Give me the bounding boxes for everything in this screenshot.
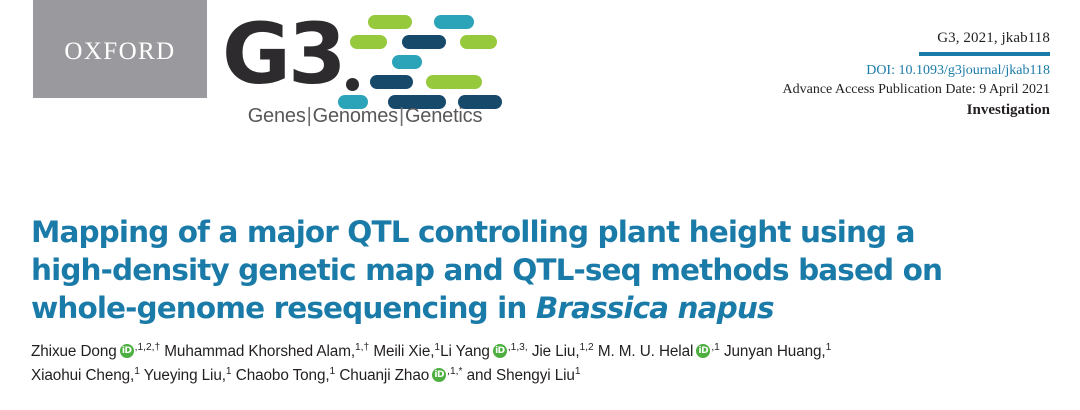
article-section-label: Investigation bbox=[630, 100, 1050, 120]
author-name[interactable]: Jie Liu, bbox=[528, 343, 580, 360]
author-affiliation-marker: ,1,2,† bbox=[135, 342, 161, 353]
bar-teal-1 bbox=[434, 15, 474, 29]
tagline-separator-1: | bbox=[306, 105, 313, 127]
author-line-1: Zhixue Dong,1,2,† Muhammad Khorshed Alam… bbox=[31, 340, 1051, 364]
author-name[interactable]: Muhammad Khorshed Alam, bbox=[160, 343, 355, 360]
title-line-1: Mapping of a major QTL controlling plant… bbox=[31, 215, 915, 249]
oxford-wordmark: OXFORD bbox=[64, 35, 175, 64]
g3-wordmark: G3 bbox=[222, 12, 343, 96]
tagline-separator-2: | bbox=[398, 105, 405, 127]
author-affiliation-marker: 1 bbox=[575, 366, 581, 377]
oxford-university-press-logo: OXFORD bbox=[33, 0, 207, 98]
doi-link[interactable]: DOI: 10.1093/g3journal/jkab118 bbox=[630, 61, 1050, 80]
author-name[interactable]: Xiaohui Cheng, bbox=[31, 367, 134, 384]
author-name[interactable]: Zhixue Dong bbox=[31, 343, 117, 360]
author-affiliation-marker: 1,† bbox=[355, 342, 369, 353]
page-title: Mapping of a major QTL controlling plant… bbox=[31, 213, 1041, 327]
journal-masthead: OXFORD G3 Genes|Genomes|Genetics G3, 202… bbox=[0, 0, 1080, 150]
tagline-genomes: Genomes bbox=[313, 105, 398, 127]
bar-green-4 bbox=[426, 75, 482, 89]
g3-gene-bars-icon bbox=[350, 13, 515, 105]
orcid-icon[interactable] bbox=[493, 344, 507, 358]
author-name[interactable]: and Shengyi Liu bbox=[462, 367, 574, 384]
author-line-2: Xiaohui Cheng,1 Yueying Liu,1 Chaobo Ton… bbox=[31, 364, 1051, 388]
bar-navy-2 bbox=[370, 75, 413, 89]
author-affiliation-marker: ,1,* bbox=[447, 366, 462, 377]
title-line-3-prefix: whole-genome resequencing in bbox=[31, 291, 536, 325]
journal-citation: G3, 2021, jkab118 bbox=[630, 28, 1050, 48]
orcid-icon[interactable] bbox=[120, 344, 134, 358]
author-name[interactable]: Meili Xie, bbox=[369, 343, 434, 360]
bar-green-3 bbox=[460, 35, 497, 49]
advance-access-date: Advance Access Publication Date: 9 April… bbox=[630, 80, 1050, 99]
author-name[interactable]: Yueying Liu, bbox=[140, 367, 226, 384]
g3-journal-logo: G3 Genes|Genomes|Genetics bbox=[222, 12, 512, 137]
bar-navy-1 bbox=[402, 35, 446, 49]
author-name[interactable]: Li Yang bbox=[440, 343, 490, 360]
bar-teal-2 bbox=[392, 55, 422, 69]
author-name[interactable]: Chuanji Zhao bbox=[335, 367, 429, 384]
journal-metadata-block: G3, 2021, jkab118 DOI: 10.1093/g3journal… bbox=[630, 28, 1050, 120]
author-affiliation-marker: ,1 bbox=[711, 342, 720, 353]
g3-tagline: Genes|Genomes|Genetics bbox=[215, 105, 515, 128]
author-affiliation-marker: ,1,3, bbox=[508, 342, 528, 353]
tagline-genes: Genes bbox=[248, 105, 306, 127]
title-species-name: Brassica napus bbox=[536, 291, 774, 325]
author-affiliation-marker: 1 bbox=[826, 342, 832, 353]
author-affiliation-marker: 1,2 bbox=[580, 342, 594, 353]
bar-green-2 bbox=[350, 35, 387, 49]
bar-green-1 bbox=[368, 15, 412, 29]
title-line-2: high-density genetic map and QTL-seq met… bbox=[31, 253, 942, 287]
author-list: Zhixue Dong,1,2,† Muhammad Khorshed Alam… bbox=[31, 340, 1051, 388]
tagline-genetics: Genetics bbox=[405, 105, 482, 127]
orcid-icon[interactable] bbox=[696, 344, 710, 358]
orcid-icon[interactable] bbox=[432, 368, 446, 382]
author-name[interactable]: Junyan Huang, bbox=[720, 343, 826, 360]
metadata-divider bbox=[919, 52, 1050, 56]
author-name[interactable]: Chaobo Tong, bbox=[232, 367, 330, 384]
author-name[interactable]: M. M. U. Helal bbox=[594, 343, 694, 360]
